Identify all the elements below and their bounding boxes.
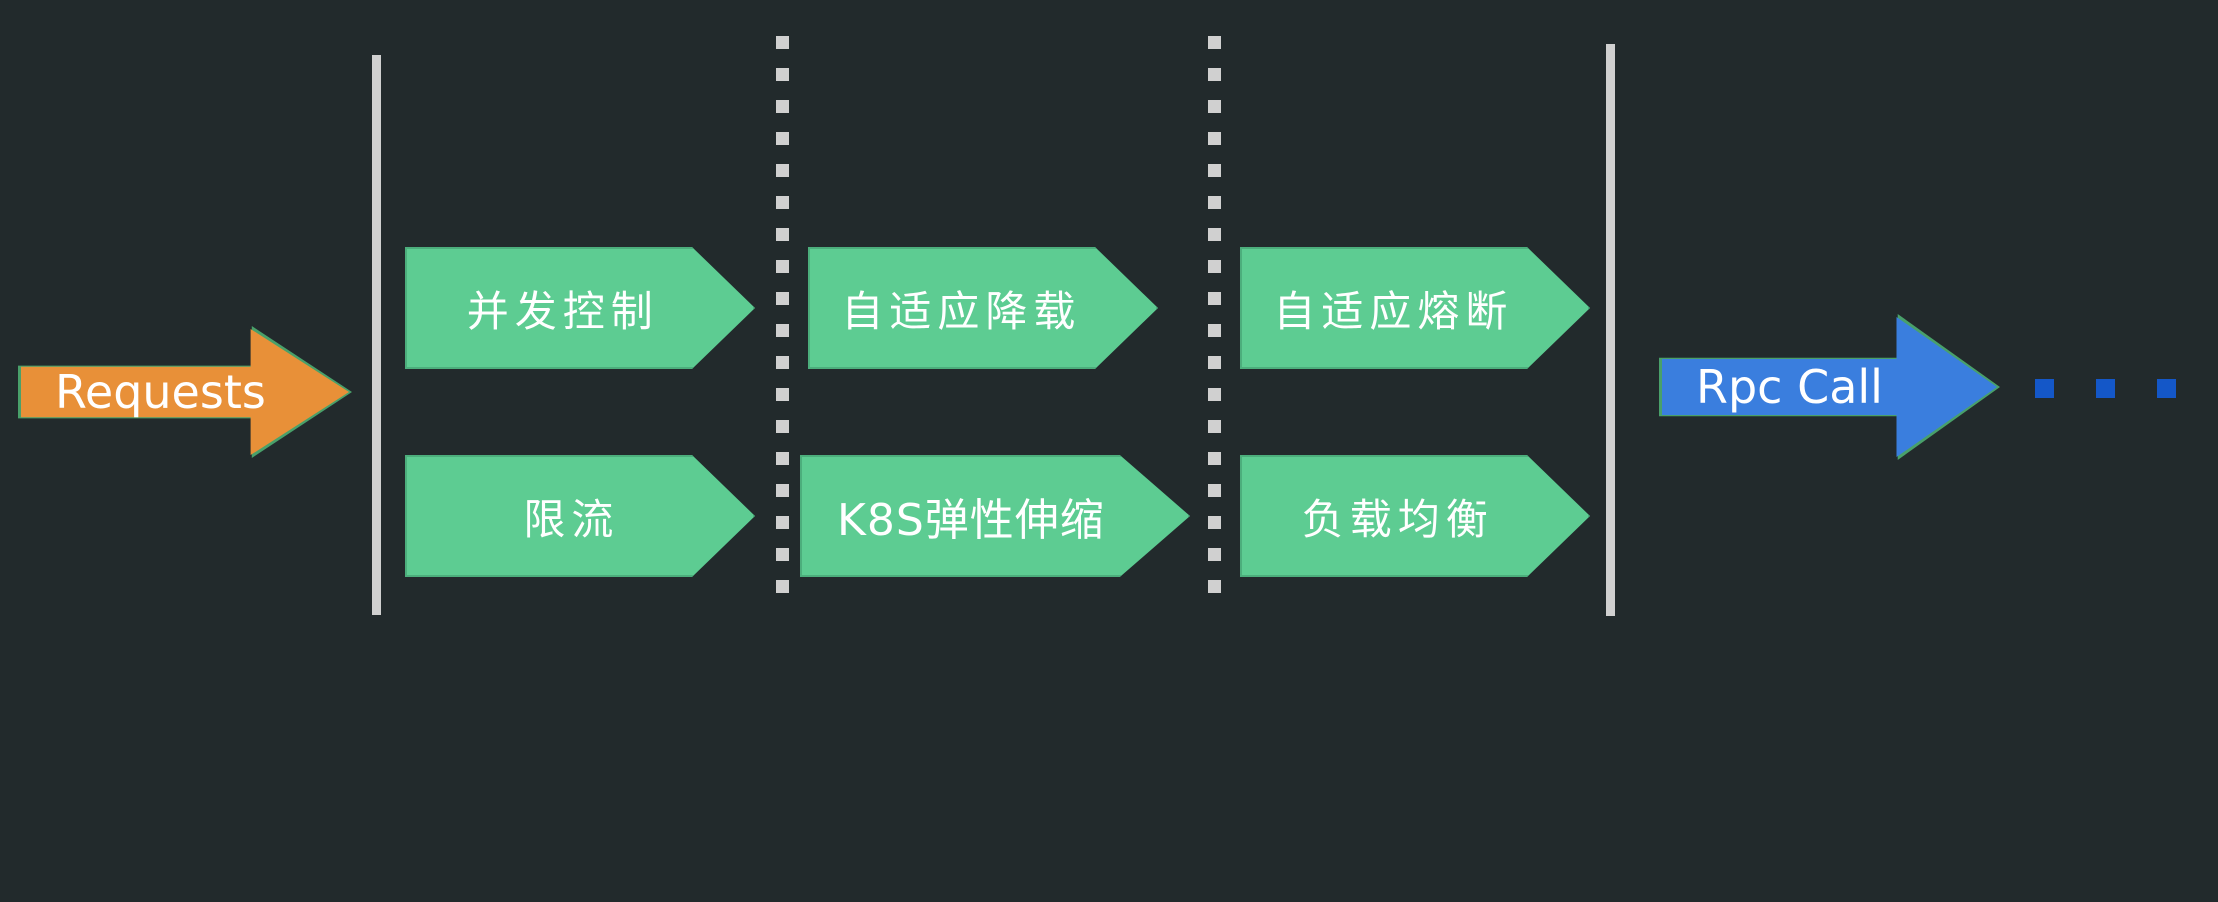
boundary-line-right xyxy=(1606,44,1615,616)
stage-label: 并发控制 xyxy=(467,278,659,339)
stage-block-concurrency-control[interactable]: 并发控制 xyxy=(405,247,755,369)
ellipsis-dots-icon xyxy=(2035,379,2218,398)
boundary-line-stage-two xyxy=(1208,36,1221,612)
stage-label: K8S弹性伸缩 xyxy=(837,484,1105,548)
rpc-call-arrow-label: Rpc Call xyxy=(1662,360,1883,414)
stage-block-k8s-elastic-scaling[interactable]: K8S弹性伸缩 xyxy=(800,455,1190,577)
stage-label: 限流 xyxy=(523,486,619,547)
boundary-line-left xyxy=(372,55,381,615)
stage-label: 自适应熔断 xyxy=(1273,278,1513,339)
stage-block-rate-limiting[interactable]: 限流 xyxy=(405,455,755,577)
requests-arrow-label: Requests xyxy=(21,365,266,419)
requests-arrow[interactable]: Requests xyxy=(21,329,349,455)
stage-label: 自适应降载 xyxy=(841,278,1081,339)
diagram-canvas: Requests 并发控制 自适应降载 自适应熔断 限流 K8S弹性伸缩 负载均… xyxy=(0,0,2218,902)
stage-block-adaptive-load-shedding[interactable]: 自适应降载 xyxy=(808,247,1158,369)
stage-block-load-balancing[interactable]: 负载均衡 xyxy=(1240,455,1590,577)
boundary-line-stage-one xyxy=(776,36,789,612)
rpc-call-arrow[interactable]: Rpc Call xyxy=(1662,317,1997,457)
stage-label: 负载均衡 xyxy=(1302,486,1494,547)
stage-block-adaptive-circuit-breaking[interactable]: 自适应熔断 xyxy=(1240,247,1590,369)
